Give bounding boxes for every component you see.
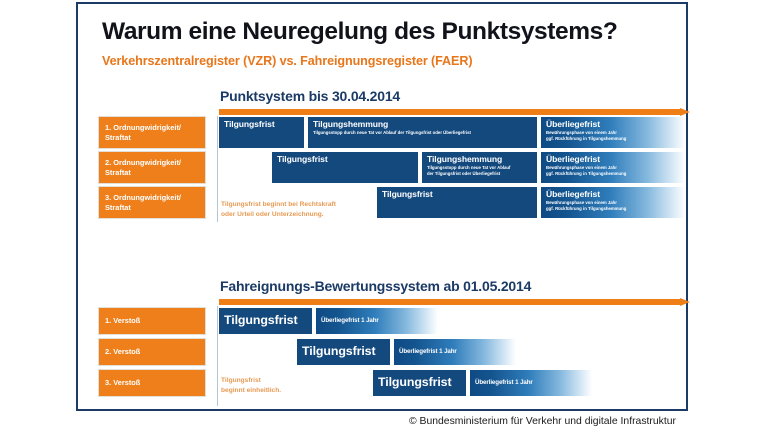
arrow-shaft xyxy=(219,109,681,115)
bar-title: Tilgungsfrist xyxy=(382,189,533,199)
bar-title: Tilgungshemmung xyxy=(313,119,533,129)
bar-title: Überliegefrist 1 Jahr xyxy=(475,379,588,386)
page-subtitle: Verkehrszentralregister (VZR) vs. Fahrei… xyxy=(102,54,472,68)
page-title: Warum eine Neuregelung des Punktsystems? xyxy=(102,18,617,46)
bar-title: Überliegefrist xyxy=(546,189,681,199)
category-label-3-line1: 3. Ordnungwidrigkeit/ xyxy=(105,193,181,203)
timeline-arrow-2 xyxy=(219,298,690,306)
bar-subtitle-line2: ggf. Rückführung in Tilgungshemmung xyxy=(546,206,681,212)
bar-s1-r2-tilgungshemmung: Tilgungshemmung Tilgungsstopp durch neue… xyxy=(421,151,538,184)
bar-s2-r1-tilgungsfrist: Tilgungsfrist xyxy=(218,307,313,335)
infographic-canvas: Warum eine Neuregelung des Punktsystems?… xyxy=(0,0,768,432)
bar-s2-r3-tilgungsfrist: Tilgungsfrist xyxy=(372,369,467,397)
bar-title: Überliegefrist 1 Jahr xyxy=(399,348,512,355)
bar-subtitle-line2: ggf. Rückführung in Tilgungshemmung xyxy=(546,171,681,177)
section1-note: Tilgungsfrist beginnt bei Rechtskraft od… xyxy=(221,200,341,219)
bar-title: Tilgungsfrist xyxy=(277,154,414,164)
section2-note-line2: beginnt einheitlich. xyxy=(221,386,301,396)
bar-title: Überliegefrist xyxy=(546,119,681,129)
bar-s1-r2-ueberliegefrist: Überliegefrist Bewährungsphase von einem… xyxy=(540,151,686,184)
bar-s1-r1-ueberliegefrist: Überliegefrist Bewährungsphase von einem… xyxy=(540,116,686,149)
arrow-shaft xyxy=(219,299,681,305)
category-label-2: 2. Ordnungwidrigkeit/ Straftat xyxy=(98,151,206,184)
timeline-arrow-1 xyxy=(219,108,690,116)
category-label-verstoss-3: 3. Verstoß xyxy=(98,369,206,397)
arrow-head-icon xyxy=(680,108,690,116)
category-label-2-line2: Straftat xyxy=(105,168,181,178)
section-title-punktsystem: Punktsystem bis 30.04.2014 xyxy=(220,88,400,104)
bar-s1-r3-ueberliegefrist: Überliegefrist Bewährungsphase von einem… xyxy=(540,186,686,219)
category-label-text: 2. Verstoß xyxy=(105,347,140,357)
section2-note-line1: Tilgungsfrist xyxy=(221,376,301,386)
infographic-frame: Warum eine Neuregelung des Punktsystems?… xyxy=(76,2,688,411)
bar-title: Tilgungsfrist xyxy=(224,119,300,129)
bar-s2-r2-ueberliegefrist: Überliegefrist 1 Jahr xyxy=(393,338,517,366)
bar-s2-r3-ueberliegefrist: Überliegefrist 1 Jahr xyxy=(469,369,593,397)
bar-s1-r1-tilgungsfrist: Tilgungsfrist xyxy=(218,116,305,149)
bar-s1-r2-tilgungsfrist: Tilgungsfrist xyxy=(271,151,419,184)
bar-title: Tilgungsfrist xyxy=(378,375,462,390)
category-label-verstoss-1: 1. Verstoß xyxy=(98,307,206,335)
bar-title: Tilgungsfrist xyxy=(302,344,386,359)
bar-title: Tilgungsfrist xyxy=(224,313,308,328)
bar-s1-r3-tilgungsfrist: Tilgungsfrist xyxy=(376,186,538,219)
bar-title: Überliegefrist xyxy=(546,154,681,164)
section-title-fahreignung: Fahreignungs-Bewertungssystem ab 01.05.2… xyxy=(220,278,531,294)
category-label-1-line1: 1. Ordnungwidrigkeit/ xyxy=(105,123,181,133)
category-label-1: 1. Ordnungwidrigkeit/ Straftat xyxy=(98,116,206,149)
category-label-verstoss-2: 2. Verstoß xyxy=(98,338,206,366)
bar-s2-r1-ueberliegefrist: Überliegefrist 1 Jahr xyxy=(315,307,439,335)
category-label-1-line2: Straftat xyxy=(105,133,181,143)
footer-copyright: © Bundesministerium für Verkehr und digi… xyxy=(409,416,676,427)
bar-subtitle: Tilgungsstopp durch neue Tat vor Ablauf … xyxy=(313,130,533,136)
bar-s2-r2-tilgungsfrist: Tilgungsfrist xyxy=(296,338,391,366)
section2-note: Tilgungsfrist beginnt einheitlich. xyxy=(221,376,301,395)
bar-subtitle-line2: ggf. Rückführung in Tilgungshemmung xyxy=(546,136,681,142)
category-label-3-line2: Straftat xyxy=(105,203,181,213)
arrow-head-icon xyxy=(680,298,690,306)
bar-s1-r1-tilgungshemmung: Tilgungshemmung Tilgungsstopp durch neue… xyxy=(307,116,538,149)
category-label-2-line1: 2. Ordnungwidrigkeit/ xyxy=(105,158,181,168)
category-label-text: 1. Verstoß xyxy=(105,316,140,326)
bar-title: Tilgungshemmung xyxy=(427,154,533,164)
bar-title: Überliegefrist 1 Jahr xyxy=(321,317,434,324)
bar-subtitle-line2: der Tilgungsfrist oder Überliegefrist xyxy=(427,171,533,177)
category-label-text: 3. Verstoß xyxy=(105,378,140,388)
category-label-3: 3. Ordnungwidrigkeit/ Straftat xyxy=(98,186,206,219)
